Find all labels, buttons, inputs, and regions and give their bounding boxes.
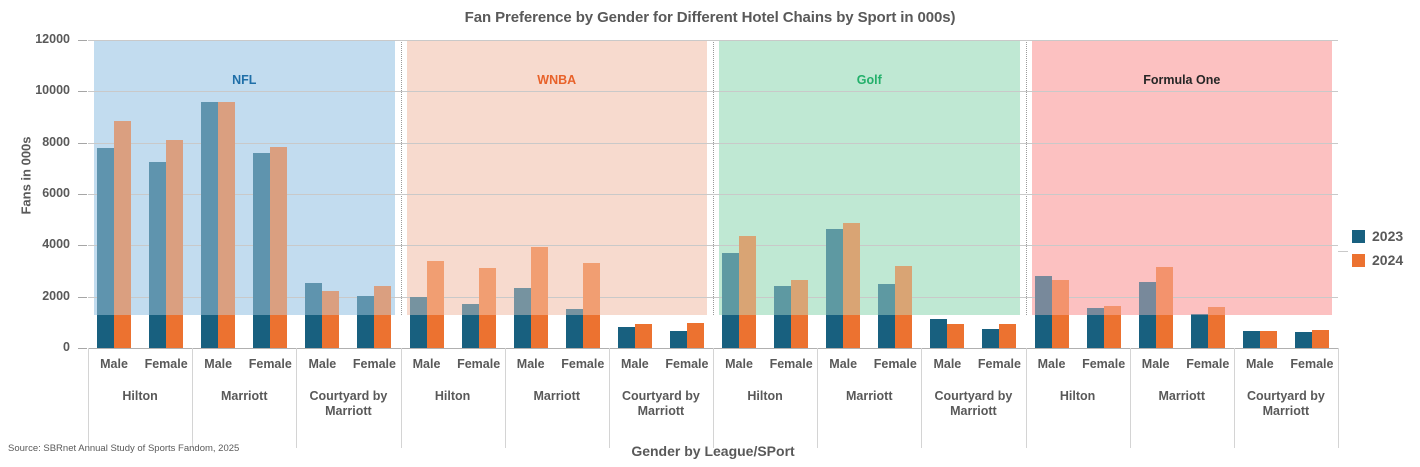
bar-segment-tinted bbox=[531, 247, 548, 315]
x-axis-gender-label: Male bbox=[817, 357, 869, 371]
chart-container: Fan Preference by Gender for Different H… bbox=[0, 0, 1420, 467]
bar-segment-tinted bbox=[97, 148, 114, 315]
bar-2023[interactable] bbox=[201, 102, 218, 348]
bar-segment-plain bbox=[201, 315, 218, 348]
bar-2024[interactable] bbox=[427, 261, 444, 348]
bar-2024[interactable] bbox=[583, 263, 600, 348]
bar-segment-tinted bbox=[791, 280, 808, 315]
y-axis-tick-label: 8000 bbox=[0, 135, 70, 149]
bar-segment-plain bbox=[1312, 330, 1329, 348]
league-separator bbox=[1026, 40, 1028, 315]
bar-segment-plain bbox=[722, 315, 739, 348]
bar-segment-plain bbox=[305, 315, 322, 348]
bar-2023[interactable] bbox=[1035, 276, 1052, 348]
league-band-label: WNBA bbox=[407, 73, 708, 87]
bar-2023[interactable] bbox=[1139, 282, 1156, 348]
bar-segment-tinted bbox=[427, 261, 444, 315]
x-axis-gender-label: Male bbox=[505, 357, 557, 371]
y-axis-tick-label: 4000 bbox=[0, 237, 70, 251]
x-axis-chain-label: Hilton bbox=[1026, 389, 1130, 404]
bar-2023[interactable] bbox=[878, 284, 895, 348]
x-axis-chain-label: Courtyard by Marriott bbox=[609, 389, 713, 419]
y-axis-tick-mark bbox=[78, 297, 87, 298]
bar-2023[interactable] bbox=[357, 296, 374, 348]
bar-2023[interactable] bbox=[1191, 314, 1208, 348]
x-axis-group-separator bbox=[401, 348, 402, 448]
bar-2024[interactable] bbox=[1052, 280, 1069, 348]
bar-2024[interactable] bbox=[843, 223, 860, 348]
bar-segment-plain bbox=[149, 315, 166, 348]
bar-segment-plain bbox=[687, 323, 704, 348]
bar-segment-tinted bbox=[1035, 276, 1052, 315]
bar-segment-tinted bbox=[583, 263, 600, 315]
x-axis-gender-label: Female bbox=[140, 357, 192, 371]
bar-segment-plain bbox=[739, 315, 756, 348]
bar-segment-tinted bbox=[739, 236, 756, 315]
bar-2024[interactable] bbox=[270, 147, 287, 348]
bar-segment-tinted bbox=[878, 284, 895, 315]
league-band-golf: Golf bbox=[719, 40, 1020, 315]
bar-segment-plain bbox=[1052, 315, 1069, 348]
bar-2023[interactable] bbox=[566, 309, 583, 348]
bar-2023[interactable] bbox=[514, 288, 531, 348]
bar-segment-plain bbox=[427, 315, 444, 348]
bar-segment-plain bbox=[670, 331, 687, 348]
bar-2024[interactable] bbox=[114, 121, 131, 348]
bar-segment-plain bbox=[1087, 315, 1104, 348]
x-axis-group-separator bbox=[88, 348, 89, 448]
x-axis-gender-label: Female bbox=[1078, 357, 1130, 371]
bar-2024[interactable] bbox=[687, 323, 704, 348]
bar-segment-tinted bbox=[270, 147, 287, 315]
legend-label: 2023 bbox=[1372, 228, 1403, 244]
x-axis-gender-label: Female bbox=[973, 357, 1025, 371]
x-axis-gender-label: Female bbox=[557, 357, 609, 371]
bar-2024[interactable] bbox=[1260, 331, 1277, 348]
y-axis-tick-mark bbox=[78, 40, 87, 41]
y-axis-title: Fans in 000s bbox=[19, 96, 34, 256]
bar-segment-plain bbox=[322, 315, 339, 348]
bar-segment-plain bbox=[566, 315, 583, 348]
bar-2024[interactable] bbox=[1208, 307, 1225, 348]
bar-segment-tinted bbox=[1156, 267, 1173, 315]
bar-segment-tinted bbox=[201, 102, 218, 315]
x-axis-gender-label: Female bbox=[348, 357, 400, 371]
bar-segment-plain bbox=[843, 315, 860, 348]
bar-segment-plain bbox=[635, 324, 652, 348]
bar-segment-tinted bbox=[1052, 280, 1069, 315]
bar-2024[interactable] bbox=[999, 324, 1016, 348]
x-axis-gender-label: Male bbox=[296, 357, 348, 371]
bar-segment-plain bbox=[791, 315, 808, 348]
plot-area: NFLWNBAGolfFormula One bbox=[88, 40, 1338, 348]
bar-2024[interactable] bbox=[947, 324, 964, 348]
y-axis-tick-mark bbox=[78, 348, 87, 349]
bar-2023[interactable] bbox=[1243, 331, 1260, 348]
bar-2024[interactable] bbox=[895, 266, 912, 348]
league-band-formula-one: Formula One bbox=[1032, 40, 1333, 315]
bar-segment-plain bbox=[1156, 315, 1173, 348]
bar-2023[interactable] bbox=[618, 327, 635, 348]
bar-2023[interactable] bbox=[930, 319, 947, 348]
x-axis-gender-label: Female bbox=[765, 357, 817, 371]
y-axis-tick-label: 10000 bbox=[0, 83, 70, 97]
x-axis-group-separator bbox=[1234, 348, 1235, 448]
bar-segment-tinted bbox=[479, 268, 496, 315]
x-axis-gender-label: Male bbox=[1130, 357, 1182, 371]
bar-segment-plain bbox=[1191, 315, 1208, 348]
bar-2023[interactable] bbox=[826, 229, 843, 348]
x-axis-gender-label: Female bbox=[244, 357, 296, 371]
bar-2023[interactable] bbox=[1295, 332, 1312, 348]
league-band-wnba: WNBA bbox=[407, 40, 708, 315]
legend-tick-mark bbox=[1338, 251, 1348, 252]
bar-segment-tinted bbox=[305, 283, 322, 315]
x-axis-group-separator bbox=[817, 348, 818, 448]
x-axis-group-separator bbox=[921, 348, 922, 448]
league-separator bbox=[401, 40, 403, 315]
y-axis-tick-mark bbox=[78, 91, 87, 92]
x-axis-group-separator bbox=[505, 348, 506, 448]
x-axis-group-separator bbox=[192, 348, 193, 448]
bar-segment-plain bbox=[826, 315, 843, 348]
bar-segment-plain bbox=[531, 315, 548, 348]
x-axis-chain-label: Marriott bbox=[505, 389, 609, 404]
bar-2024[interactable] bbox=[374, 286, 391, 348]
chart-title: Fan Preference by Gender for Different H… bbox=[0, 9, 1420, 26]
league-band-label: NFL bbox=[94, 73, 395, 87]
bar-segment-tinted bbox=[566, 309, 583, 315]
bar-segment-plain bbox=[97, 315, 114, 348]
legend-label: 2024 bbox=[1372, 252, 1403, 268]
x-axis-chain-label: Courtyard by Marriott bbox=[1234, 389, 1338, 419]
x-axis-chain-label: Marriott bbox=[1130, 389, 1234, 404]
bar-segment-plain bbox=[114, 315, 131, 348]
bar-segment-tinted bbox=[114, 121, 131, 315]
bar-2023[interactable] bbox=[410, 297, 427, 348]
bar-segment-tinted bbox=[1208, 307, 1225, 315]
x-axis-gender-label: Female bbox=[661, 357, 713, 371]
x-axis-chain-label: Marriott bbox=[192, 389, 296, 404]
bar-segment-tinted bbox=[1139, 282, 1156, 315]
bar-segment-tinted bbox=[218, 102, 235, 315]
y-axis-tick-label: 2000 bbox=[0, 289, 70, 303]
x-axis-group-separator bbox=[1130, 348, 1131, 448]
bar-2024[interactable] bbox=[166, 140, 183, 348]
bar-2024[interactable] bbox=[1156, 267, 1173, 348]
x-axis-chain-label: Hilton bbox=[713, 389, 817, 404]
legend: 20232024 bbox=[1352, 228, 1403, 276]
y-axis-tick-mark bbox=[78, 245, 87, 246]
bar-segment-plain bbox=[999, 324, 1016, 348]
gridline bbox=[88, 40, 1338, 41]
bar-segment-plain bbox=[878, 315, 895, 348]
gridline bbox=[88, 91, 1338, 92]
bar-2024[interactable] bbox=[1104, 306, 1121, 348]
gridline bbox=[88, 143, 1338, 144]
x-axis-gender-label: Male bbox=[1234, 357, 1286, 371]
bar-segment-plain bbox=[410, 315, 427, 348]
source-note: Source: SBRnet Annual Study of Sports Fa… bbox=[8, 443, 239, 454]
x-axis-gender-label: Male bbox=[713, 357, 765, 371]
league-band-nfl: NFL bbox=[94, 40, 395, 315]
x-axis-gender-label: Female bbox=[1286, 357, 1338, 371]
bar-segment-tinted bbox=[374, 286, 391, 315]
legend-swatch-icon bbox=[1352, 230, 1365, 243]
bar-segment-plain bbox=[218, 315, 235, 348]
x-axis-gender-label: Female bbox=[453, 357, 505, 371]
bar-segment-tinted bbox=[410, 297, 427, 315]
x-axis-gender-label: Male bbox=[401, 357, 453, 371]
bar-segment-tinted bbox=[1104, 306, 1121, 315]
bar-segment-plain bbox=[514, 315, 531, 348]
x-axis-group-separator bbox=[609, 348, 610, 448]
legend-item[interactable]: 2024 bbox=[1352, 252, 1403, 268]
x-axis-group-separator bbox=[713, 348, 714, 448]
bar-segment-plain bbox=[930, 319, 947, 348]
bar-2024[interactable] bbox=[1312, 330, 1329, 348]
league-band-label: Golf bbox=[719, 73, 1020, 87]
x-axis-chain-label: Courtyard by Marriott bbox=[296, 389, 400, 419]
bar-2024[interactable] bbox=[531, 247, 548, 348]
bar-2023[interactable] bbox=[1087, 308, 1104, 348]
bar-2023[interactable] bbox=[253, 153, 270, 348]
bar-segment-plain bbox=[1208, 315, 1225, 348]
bar-2023[interactable] bbox=[97, 148, 114, 348]
bar-segment-tinted bbox=[462, 304, 479, 315]
bar-2024[interactable] bbox=[218, 102, 235, 348]
bar-segment-tinted bbox=[826, 229, 843, 315]
bar-segment-plain bbox=[774, 315, 791, 348]
bar-segment-tinted bbox=[514, 288, 531, 315]
bar-segment-plain bbox=[583, 315, 600, 348]
x-axis-gender-label: Female bbox=[869, 357, 921, 371]
bar-2023[interactable] bbox=[462, 304, 479, 348]
bar-segment-plain bbox=[357, 315, 374, 348]
bar-segment-plain bbox=[1243, 331, 1260, 348]
bar-segment-plain bbox=[253, 315, 270, 348]
bar-2023[interactable] bbox=[670, 331, 687, 348]
bar-2024[interactable] bbox=[739, 236, 756, 348]
x-axis-chain-label: Hilton bbox=[401, 389, 505, 404]
bar-2024[interactable] bbox=[791, 280, 808, 348]
x-axis-title: Gender by League/SPort bbox=[88, 443, 1338, 459]
bar-segment-tinted bbox=[166, 140, 183, 315]
league-separator bbox=[713, 40, 715, 315]
bar-segment-plain bbox=[982, 329, 999, 349]
bar-segment-plain bbox=[895, 315, 912, 348]
y-axis-tick-mark bbox=[78, 194, 87, 195]
x-axis-gender-label: Male bbox=[192, 357, 244, 371]
bar-2023[interactable] bbox=[722, 253, 739, 348]
bar-2024[interactable] bbox=[635, 324, 652, 348]
bar-2024[interactable] bbox=[479, 268, 496, 348]
x-axis-gender-label: Male bbox=[88, 357, 140, 371]
x-axis-group-separator bbox=[296, 348, 297, 448]
bar-2024[interactable] bbox=[322, 291, 339, 348]
bar-segment-plain bbox=[479, 315, 496, 348]
x-axis-group-separator bbox=[1026, 348, 1027, 448]
bar-segment-tinted bbox=[722, 253, 739, 315]
x-axis-gender-label: Male bbox=[921, 357, 973, 371]
league-band-label: Formula One bbox=[1032, 73, 1333, 87]
bar-2023[interactable] bbox=[305, 283, 322, 348]
bar-segment-plain bbox=[1295, 332, 1312, 348]
y-axis-tick-label: 0 bbox=[0, 340, 70, 354]
bar-segment-plain bbox=[1260, 331, 1277, 348]
x-axis-group-separator bbox=[1338, 348, 1339, 448]
y-axis-tick-mark bbox=[78, 143, 87, 144]
bar-segment-tinted bbox=[253, 153, 270, 315]
x-axis-chain-label: Marriott bbox=[817, 389, 921, 404]
bar-segment-tinted bbox=[1087, 308, 1104, 315]
y-axis-tick-label: 6000 bbox=[0, 186, 70, 200]
bar-segment-plain bbox=[374, 315, 391, 348]
x-axis-gender-label: Female bbox=[1182, 357, 1234, 371]
bar-segment-tinted bbox=[895, 266, 912, 315]
bar-segment-tinted bbox=[149, 162, 166, 315]
bar-2023[interactable] bbox=[982, 329, 999, 349]
bar-segment-tinted bbox=[843, 223, 860, 315]
bar-segment-tinted bbox=[322, 291, 339, 315]
x-axis-chain-label: Courtyard by Marriott bbox=[921, 389, 1025, 419]
bar-segment-plain bbox=[1104, 315, 1121, 348]
bar-segment-tinted bbox=[357, 296, 374, 315]
bar-segment-plain bbox=[1139, 315, 1156, 348]
bar-segment-plain bbox=[462, 315, 479, 348]
bar-segment-plain bbox=[166, 315, 183, 348]
bar-segment-plain bbox=[270, 315, 287, 348]
bar-segment-tinted bbox=[1191, 314, 1208, 315]
legend-swatch-icon bbox=[1352, 254, 1365, 267]
y-axis-tick-label: 12000 bbox=[0, 32, 70, 46]
bar-segment-plain bbox=[618, 327, 635, 348]
legend-item[interactable]: 2023 bbox=[1352, 228, 1403, 244]
x-axis-gender-label: Male bbox=[1026, 357, 1078, 371]
bar-2023[interactable] bbox=[149, 162, 166, 348]
bar-segment-plain bbox=[947, 324, 964, 348]
bar-2023[interactable] bbox=[774, 286, 791, 348]
x-axis-chain-label: Hilton bbox=[88, 389, 192, 404]
x-axis-gender-label: Male bbox=[609, 357, 661, 371]
bar-segment-tinted bbox=[774, 286, 791, 315]
bar-segment-plain bbox=[1035, 315, 1052, 348]
